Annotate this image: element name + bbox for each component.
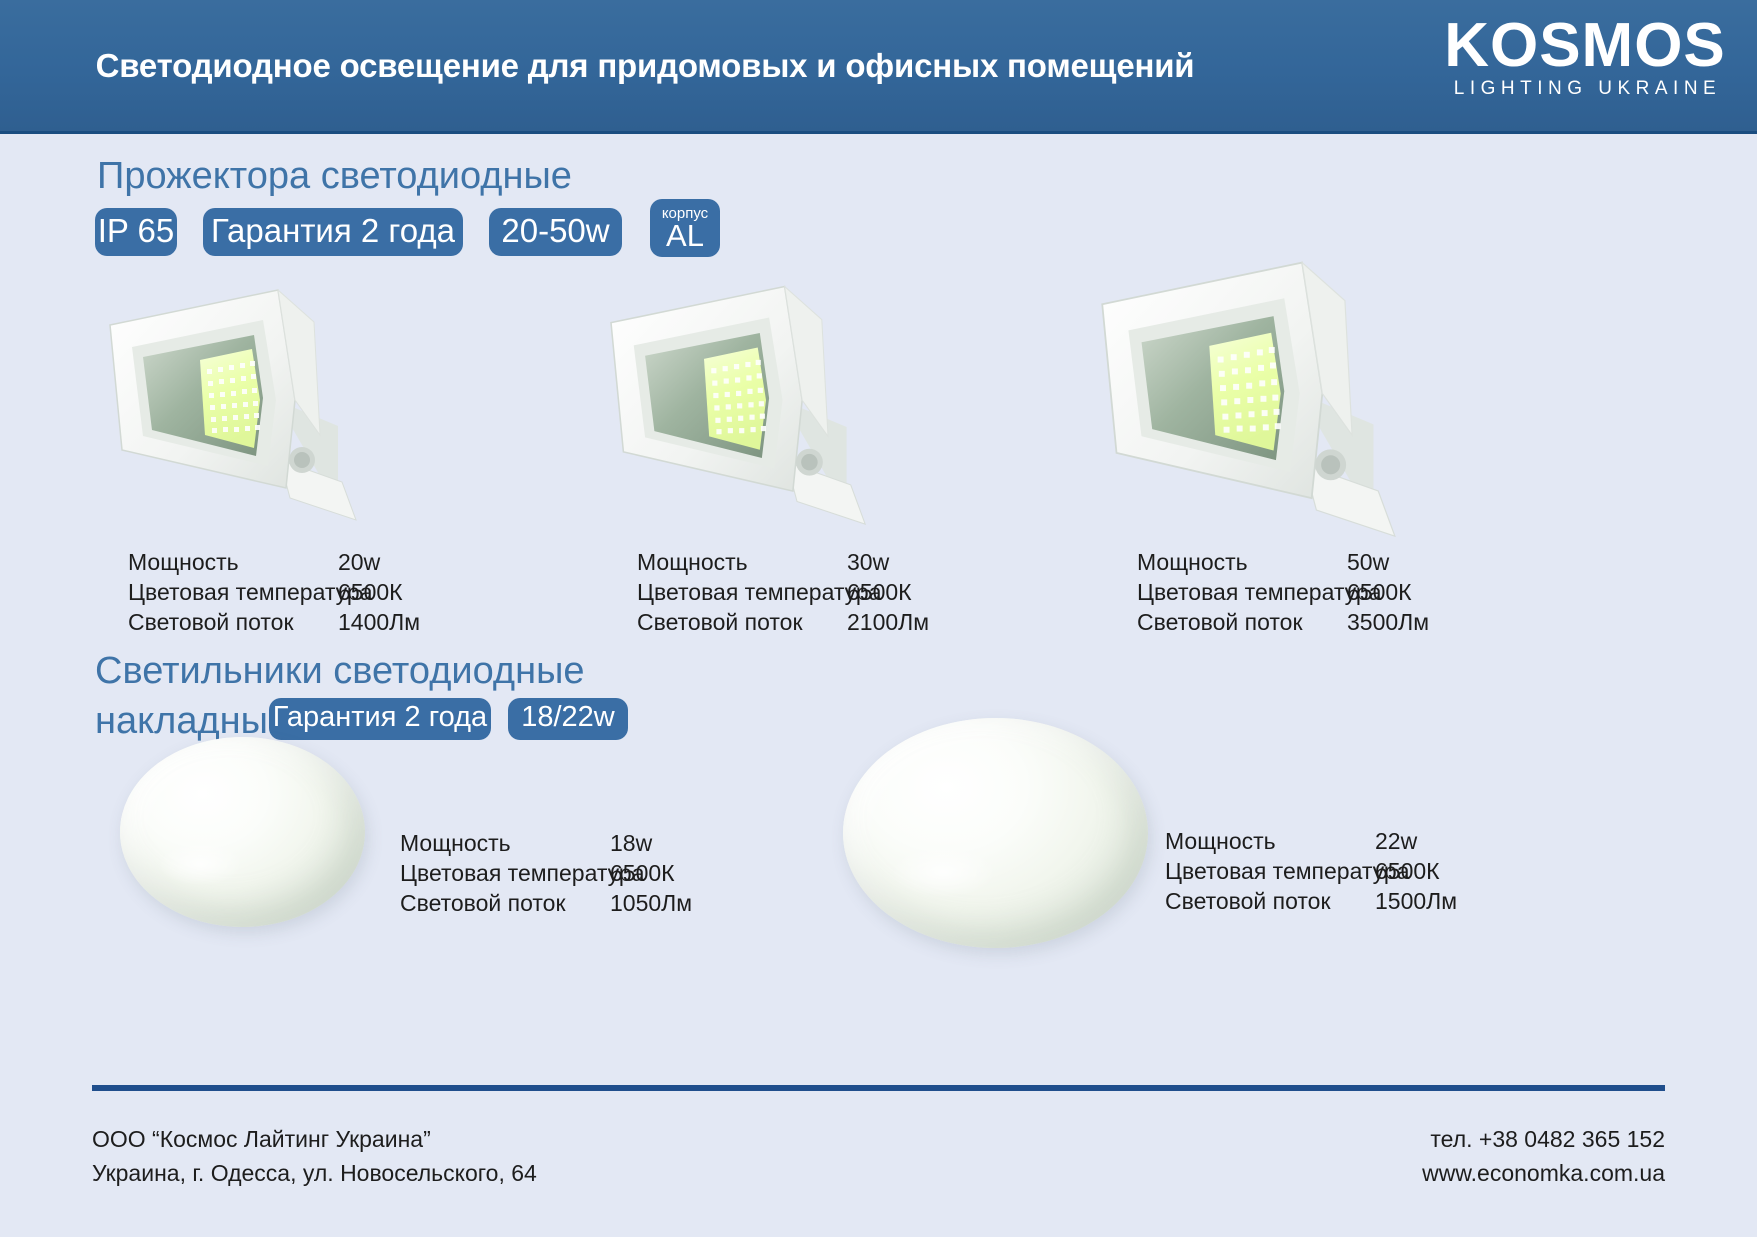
spec-value: 6500К <box>1347 577 1412 607</box>
spec-label: Мощность <box>400 828 610 858</box>
spec-row: Световой поток2100Лм <box>637 607 929 637</box>
spec-value: 6500К <box>847 577 912 607</box>
spec-value: 1400Лм <box>338 607 420 637</box>
spec-row: Мощность30w <box>637 547 929 577</box>
spec-value: 18w <box>610 828 652 858</box>
header-bar: Светодиодное освещение для придомовых и … <box>0 0 1757 134</box>
spec-label: Цветовая температура <box>637 577 847 607</box>
spec-label: Мощность <box>1137 547 1347 577</box>
page-title: Светодиодное освещение для придомовых и … <box>0 0 1290 131</box>
spec-table-ceiling-lamp-18w: Мощность18w Цветовая температура6500К Св… <box>400 828 692 918</box>
poster-canvas: Светодиодное освещение для придомовых и … <box>0 0 1757 1237</box>
spec-value: 30w <box>847 547 889 577</box>
spec-row: Мощность18w <box>400 828 692 858</box>
spec-label: Световой поток <box>1137 607 1347 637</box>
ceiling-lamp-icon-22w <box>843 718 1148 948</box>
footer-company-info: ООО “Космос Лайтинг Украина” Украина, г.… <box>92 1122 537 1190</box>
floodlight-icon-20w <box>80 250 380 540</box>
brand-tagline: LIGHTING UKRAINE <box>1435 76 1735 102</box>
spec-label: Мощность <box>637 547 847 577</box>
spec-row: Цветовая температура6500К <box>400 858 692 888</box>
brand-logo: KOSMOS LIGHTING UKRAINE <box>1435 16 1735 102</box>
spec-row: Световой поток1050Лм <box>400 888 692 918</box>
spec-label: Световой поток <box>637 607 847 637</box>
spec-label: Цветовая температура <box>128 577 338 607</box>
brand-name: KOSMOS <box>1435 16 1735 76</box>
spec-table-floodlight-50w: Мощность50w Цветовая температура6500К Св… <box>1137 547 1429 637</box>
floodlight-icon-30w <box>580 245 890 545</box>
spec-row: Световой поток1500Лм <box>1165 886 1457 916</box>
spec-value: 50w <box>1347 547 1389 577</box>
spec-label: Световой поток <box>1165 886 1375 916</box>
spec-value: 3500Лм <box>1347 607 1429 637</box>
footer-website[interactable]: www.economka.com.ua <box>1422 1156 1665 1190</box>
spec-label: Световой поток <box>128 607 338 637</box>
spec-label: Цветовая температура <box>400 858 610 888</box>
floodlight-icon-50w <box>1065 215 1425 560</box>
footer-divider <box>92 1085 1665 1091</box>
spec-row: Световой поток1400Лм <box>128 607 420 637</box>
spec-value: 6500К <box>338 577 403 607</box>
footer-contact-info: тел. +38 0482 365 152 www.economka.com.u… <box>1422 1122 1665 1190</box>
spec-value: 2100Лм <box>847 607 929 637</box>
spec-value: 22w <box>1375 826 1417 856</box>
spec-row: Цветовая температура6500К <box>637 577 929 607</box>
spec-label: Мощность <box>1165 826 1375 856</box>
badge-warranty-ceiling-lamps: Гарантия 2 года <box>269 698 491 740</box>
badge-warranty-floodlights: Гарантия 2 года <box>203 208 463 256</box>
spec-row: Цветовая температура6500К <box>128 577 420 607</box>
spec-row: Цветовая температура6500К <box>1137 577 1429 607</box>
spec-row: Мощность50w <box>1137 547 1429 577</box>
badge-ip65: IP 65 <box>95 208 177 256</box>
section-heading-ceiling-lamps-line2: накладные <box>95 700 289 743</box>
spec-label: Цветовая температура <box>1137 577 1347 607</box>
spec-label: Цветовая температура <box>1165 856 1375 886</box>
footer-company-name: ООО “Космос Лайтинг Украина” <box>92 1122 537 1156</box>
footer-address: Украина, г. Одесса, ул. Новосельского, 6… <box>92 1156 537 1190</box>
spec-table-ceiling-lamp-22w: Мощность22w Цветовая температура6500К Св… <box>1165 826 1457 916</box>
spec-value: 6500К <box>610 858 675 888</box>
footer-phone: тел. +38 0482 365 152 <box>1422 1122 1665 1156</box>
spec-row: Мощность20w <box>128 547 420 577</box>
section-heading-ceiling-lamps: Светильники светодиодные <box>95 650 585 693</box>
spec-row: Световой поток3500Лм <box>1137 607 1429 637</box>
spec-table-floodlight-30w: Мощность30w Цветовая температура6500К Св… <box>637 547 929 637</box>
spec-table-floodlight-20w: Мощность20w Цветовая температура6500К Св… <box>128 547 420 637</box>
section-heading-floodlights: Прожектора светодиодные <box>97 155 572 198</box>
spec-value: 1500Лм <box>1375 886 1457 916</box>
badge-wattage-ceiling-lamps: 18/22w <box>508 698 628 740</box>
spec-label: Световой поток <box>400 888 610 918</box>
spec-label: Мощность <box>128 547 338 577</box>
spec-value: 6500К <box>1375 856 1440 886</box>
ceiling-lamp-icon-18w <box>120 737 365 927</box>
spec-row: Мощность22w <box>1165 826 1457 856</box>
spec-value: 20w <box>338 547 380 577</box>
spec-value: 1050Лм <box>610 888 692 918</box>
spec-row: Цветовая температура6500К <box>1165 856 1457 886</box>
